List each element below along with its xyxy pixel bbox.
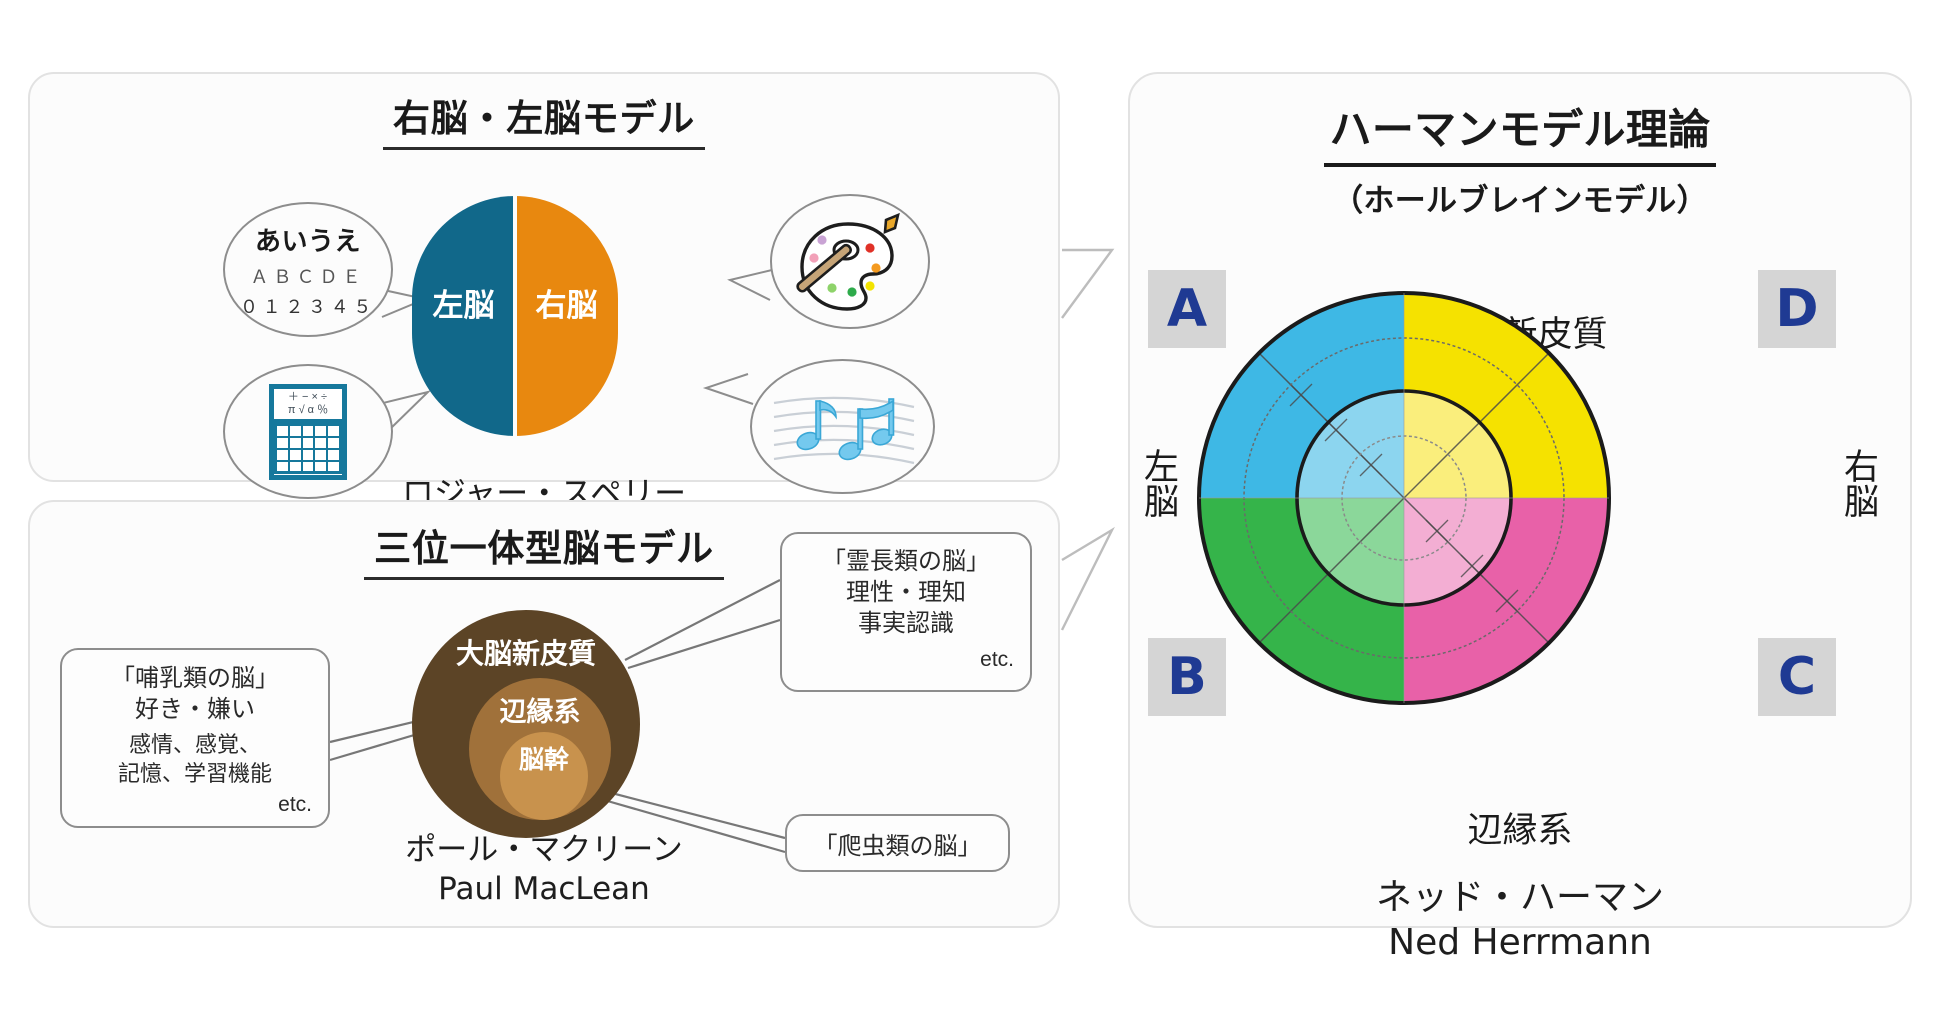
callout-primate-line1: 「霊長類の脳」 xyxy=(798,546,1014,577)
arrow-sperry-to-herrmann xyxy=(1062,250,1112,318)
callout-mammal-line3: 感情、感覚、 xyxy=(78,731,312,759)
left-right-brain-pie: 左脳 右脳 xyxy=(412,196,618,436)
herrmann-whole-brain-wheel xyxy=(1194,288,1614,708)
callout-mammal-etc: etc. xyxy=(78,792,312,819)
calculator-screen: ＋ − × ÷π √ α ％ xyxy=(274,389,342,423)
bubble-tail-music xyxy=(706,374,753,404)
pie-label-left: 左脳 xyxy=(412,280,515,325)
callout-primate-brain: 「霊長類の脳」 理性・理知 事実認識 etc. xyxy=(780,532,1032,692)
panel-title-herrmann-line1: ハーマンモデル理論 xyxy=(1324,96,1717,167)
callout-primate-line2: 理性・理知 xyxy=(798,577,1014,608)
wheel-label-right-text: 右脳 xyxy=(1839,448,1878,518)
bubble-text-characters: あいうえ ＡＢＣＤＥ ０１２３４５ xyxy=(223,202,393,337)
paint-palette-icon xyxy=(790,212,910,312)
person-name-maclean-jp: ポール・マクリーン xyxy=(28,824,1060,869)
panel-right-left-brain-model: 右脳・左脳モデル 左脳 右脳 あいうえ ＡＢＣＤＥ ０１２３４５ xyxy=(28,72,1060,482)
pie-label-right: 右脳 xyxy=(515,280,618,325)
person-name-maclean: ポール・マクリーン Paul MacLean xyxy=(28,824,1060,907)
callout-mammalian-brain: 「哺乳類の脳」 好き・嫌い 感情、感覚、 記憶、学習機能 etc. xyxy=(60,648,330,828)
arrow-triune-to-herrmann xyxy=(1062,530,1112,630)
brain-layer-limbic-label: 辺縁系 xyxy=(500,690,581,729)
brain-layer-brainstem-label: 脳幹 xyxy=(519,740,569,776)
person-name-maclean-en: Paul MacLean xyxy=(28,871,1060,907)
wheel-label-bottom: 辺縁系 xyxy=(1130,802,1910,853)
callout-mammal-line2: 好き・嫌い xyxy=(78,695,312,726)
person-name-herrmann: ネッド・ハーマン Ned Herrmann xyxy=(1130,868,1910,963)
panel-title-herrmann: ハーマンモデル理論 （ホールブレインモデル） xyxy=(1130,96,1910,220)
panel-title-triune-text: 三位一体型脳モデル xyxy=(364,528,724,580)
callout-primate-etc: etc. xyxy=(798,646,1014,673)
wheel-label-right: 右脳 xyxy=(1838,448,1876,518)
diagram-canvas: 右脳・左脳モデル 左脳 右脳 あいうえ ＡＢＣＤＥ ０１２３４５ xyxy=(0,0,1941,1017)
calculator-icon: ＋ − × ÷π √ α ％ xyxy=(269,384,347,480)
bubble-paint-palette xyxy=(770,194,930,329)
callout-mammal-line4: 記憶、学習機能 xyxy=(78,760,312,788)
callout-mammal-line1: 「哺乳類の脳」 xyxy=(78,664,312,695)
bubble-kana-line1: あいうえ xyxy=(255,221,361,258)
bubble-tail-palette xyxy=(730,270,772,300)
quadrant-badge-d: D xyxy=(1758,270,1836,348)
triune-brain-diagram: 大脳新皮質 辺縁系 脳幹 xyxy=(412,610,640,838)
whole-brain-wheel-svg xyxy=(1194,288,1614,708)
brain-layer-neocortex-label: 大脳新皮質 xyxy=(456,632,596,672)
music-notes-icon xyxy=(768,377,918,477)
wheel-label-left-text: 左脳 xyxy=(1139,448,1178,518)
wheel-label-left: 左脳 xyxy=(1138,448,1176,518)
panel-title-herrmann-line2: （ホールブレインモデル） xyxy=(1130,175,1910,220)
person-name-herrmann-jp: ネッド・ハーマン xyxy=(1130,868,1910,920)
bubble-kana-line3: ０１２３４５ xyxy=(240,293,376,319)
quadrant-badge-c: C xyxy=(1758,638,1836,716)
person-name-herrmann-en: Ned Herrmann xyxy=(1130,922,1910,963)
calculator-keys xyxy=(274,423,342,475)
bubble-kana-line2: ＡＢＣＤＥ xyxy=(250,263,365,289)
callout-primate-line3: 事実認識 xyxy=(798,608,1014,639)
brain-layer-brainstem: 脳幹 xyxy=(500,732,588,820)
